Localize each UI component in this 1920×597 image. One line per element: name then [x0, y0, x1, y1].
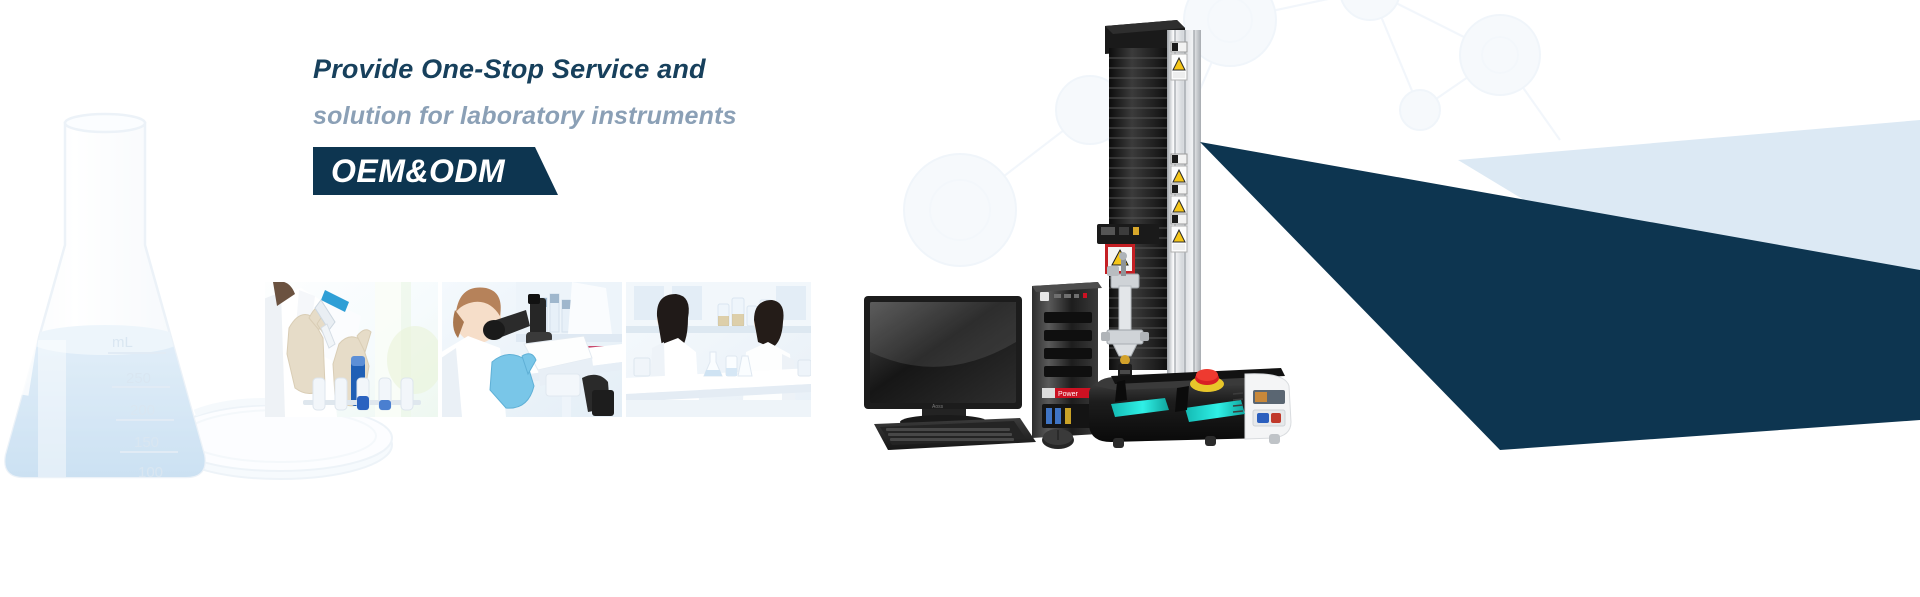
photo-microscope	[442, 282, 622, 417]
photo-strip	[265, 282, 811, 417]
svg-text:mL: mL	[112, 334, 133, 351]
svg-text:150: 150	[134, 434, 159, 451]
svg-text:100: 100	[138, 464, 163, 481]
svg-text:Aoss: Aoss	[932, 404, 944, 410]
photo-pipetting	[265, 282, 438, 417]
photo-lab-bench	[626, 282, 811, 417]
headline-line-1: Provide One-Stop Service and	[313, 56, 1013, 83]
oem-odm-badge: OEM&ODM	[313, 147, 558, 195]
headline-block: Provide One-Stop Service and solution fo…	[313, 56, 1013, 195]
computer-monitor: Aoss	[864, 296, 1022, 429]
arrow-light	[1458, 120, 1920, 270]
svg-text:Power: Power	[1058, 391, 1079, 398]
headline-line-2: solution for laboratory instruments	[313, 104, 1013, 129]
badge-label: OEM&ODM	[331, 153, 505, 189]
erlenmeyer-flask: mL 250 200 150 100	[0, 114, 230, 495]
hero-banner: mL 250 200 150 100 Provide One-Stop Serv…	[0, 0, 1920, 597]
universal-testing-machine	[1085, 18, 1310, 463]
machine-base	[1089, 368, 1291, 448]
svg-text:200: 200	[130, 402, 155, 419]
svg-text:250: 250	[126, 370, 151, 387]
